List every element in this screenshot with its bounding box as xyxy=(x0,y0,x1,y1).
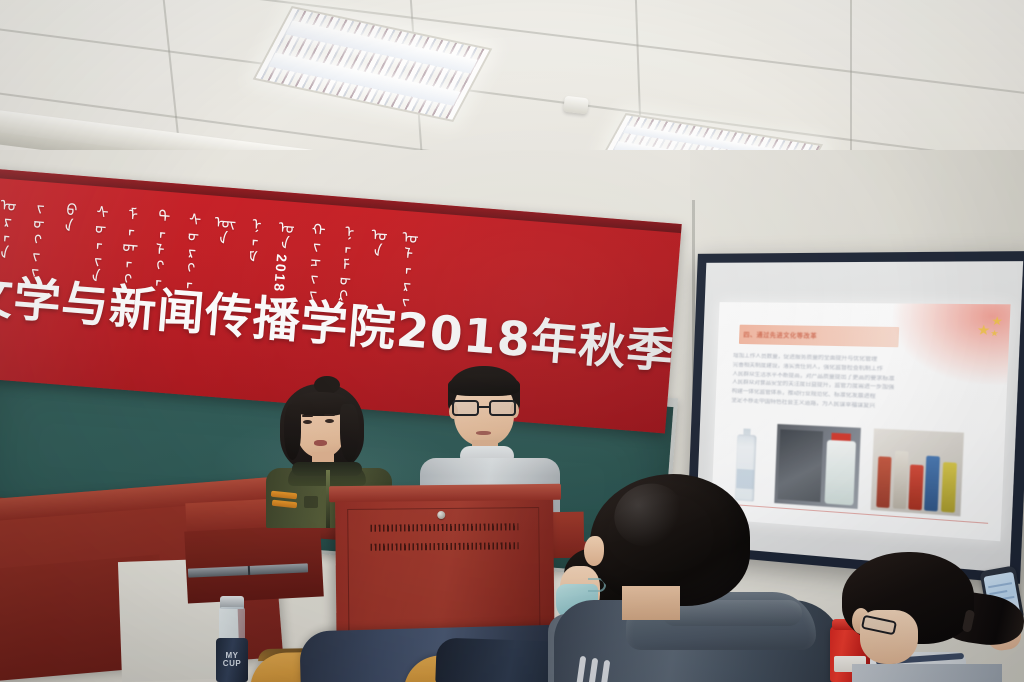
hooded-student xyxy=(570,474,830,682)
banner-year: 2018 xyxy=(271,254,290,294)
water-bottle: MYCUP xyxy=(212,596,252,682)
ponytail-student xyxy=(836,552,1024,682)
slide-body: 增加工作人员数量，促进服务质量的全面提升与优化管理 完善相关制度建设，落实责任到… xyxy=(731,353,989,423)
classroom-photo: ᠤᠷᠠᠨ ᠵᠣᠬᠢᠶᠠᠯ ᠪᠠ ᠰᠣᠨᠢᠨ ᠮᠡᠳᠡᠭᠡ ᠳᠡᠯᠭᠡᠷᠡᠭᠦᠯᠬ… xyxy=(0,0,1024,682)
eyeglasses-icon xyxy=(450,400,518,417)
slide-title-bar: 四、通过先进文化等改革 xyxy=(739,325,899,348)
mongolian-column: ᠤᠨ xyxy=(273,218,292,251)
mongolian-column: ᠨᠠᠮ xyxy=(241,215,261,264)
mongolian-column: ᠪᠠ xyxy=(57,200,76,233)
bottle-label: MYCUP xyxy=(219,652,245,669)
mongolian-column: ᠤᠨ xyxy=(366,225,385,258)
mongolian-column: ᠦᠨ xyxy=(212,213,231,246)
mongolian-column: ᠤᠷᠠᠨ xyxy=(0,195,14,260)
slide-title: 四、通过先进文化等改革 xyxy=(743,330,817,341)
slide-photo-shelf xyxy=(871,429,964,517)
smoke-detector-icon xyxy=(563,96,589,115)
mongolian-column: ᠨᠠᠮᠤᠷ xyxy=(331,223,353,304)
mongolian-column: ᠰᠣᠨᠢᠨ xyxy=(84,203,106,284)
